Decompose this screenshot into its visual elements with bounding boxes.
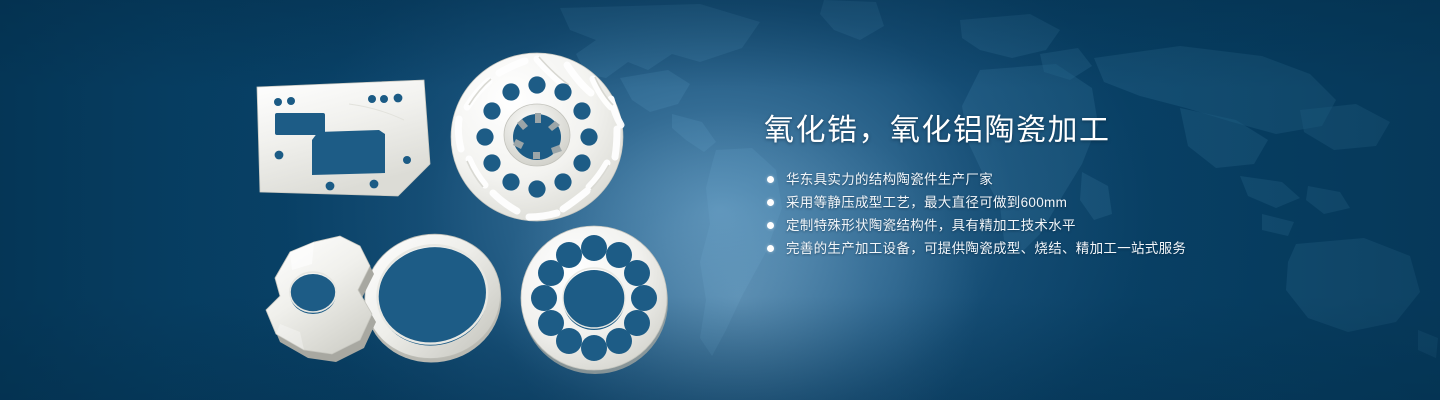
list-item-label: 定制特殊形状陶瓷结构件，具有精加工技术水平 bbox=[786, 218, 1076, 233]
ceramic-perforated-disc bbox=[516, 222, 676, 383]
list-item: 完善的生产加工设备，可提供陶瓷成型、烧结、精加工一站式服务 bbox=[764, 237, 1384, 260]
list-item-label: 完善的生产加工设备，可提供陶瓷成型、烧结、精加工一站式服务 bbox=[786, 241, 1186, 256]
ceramic-impeller-svg bbox=[448, 48, 626, 226]
filled-circle-bullet-icon bbox=[767, 176, 774, 183]
feature-list: 华东具实力的结构陶瓷件生产厂家 采用等静压成型工艺，最大直径可做到600mm 定… bbox=[764, 168, 1384, 260]
banner-text-column: 氧化锆，氧化铝陶瓷加工 华东具实力的结构陶瓷件生产厂家 采用等静压成型工艺，最大… bbox=[764, 112, 1384, 276]
ceramic-perforated-disc-svg bbox=[516, 222, 676, 378]
ceramic-impeller-disc bbox=[448, 48, 626, 231]
list-item: 华东具实力的结构陶瓷件生产厂家 bbox=[764, 168, 1384, 191]
filled-circle-bullet-icon bbox=[767, 199, 774, 206]
filled-circle-bullet-icon bbox=[767, 245, 774, 252]
page-title: 氧化锆，氧化铝陶瓷加工 bbox=[764, 112, 1384, 150]
list-item-label: 采用等静压成型工艺，最大直径可做到600mm bbox=[786, 195, 1067, 210]
ceramic-star-plate-svg bbox=[256, 232, 426, 372]
list-item: 采用等静压成型工艺，最大直径可做到600mm bbox=[764, 191, 1384, 214]
ceramic-plate-with-cutouts bbox=[252, 78, 434, 205]
ceramic-plate-svg bbox=[252, 78, 434, 200]
hero-banner: 氧化锆，氧化铝陶瓷加工 华东具实力的结构陶瓷件生产厂家 采用等静压成型工艺，最大… bbox=[0, 0, 1440, 400]
filled-circle-bullet-icon bbox=[767, 222, 774, 229]
list-item-label: 华东具实力的结构陶瓷件生产厂家 bbox=[786, 172, 993, 187]
ceramic-star-plate bbox=[256, 232, 426, 377]
list-item: 定制特殊形状陶瓷结构件，具有精加工技术水平 bbox=[764, 214, 1384, 237]
